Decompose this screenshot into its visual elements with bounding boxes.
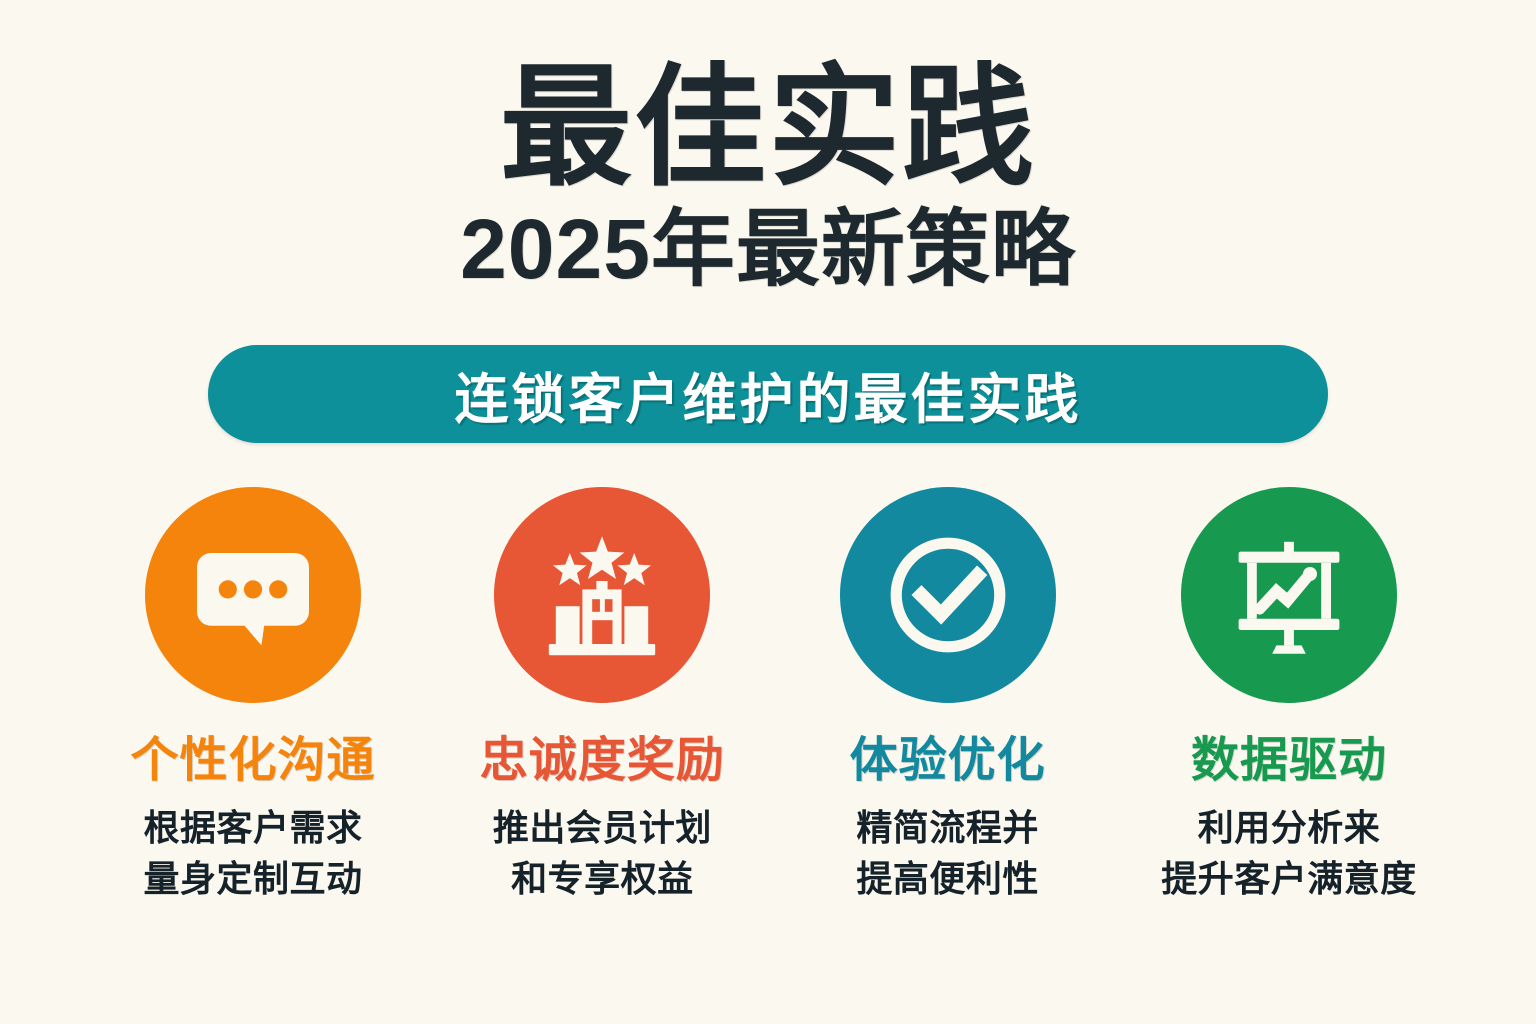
presentation-chart-icon xyxy=(1219,525,1359,665)
pillar-description-line-2: 提高便利性 xyxy=(856,853,1039,904)
pillar-experience-optimization: 体验优化 精简流程并 提高便利性 xyxy=(783,487,1113,904)
pillar-description: 根据客户需求 量身定制互动 xyxy=(143,802,362,904)
pillar-description-line-1: 根据客户需求 xyxy=(143,802,362,853)
pillars-row: 个性化沟通 根据客户需求 量身定制互动 xyxy=(88,487,1448,904)
pillar-title: 数据驱动 xyxy=(1191,733,1387,788)
page-subtitle: 2025年最新策略 xyxy=(0,202,1536,296)
pillar-title: 体验优化 xyxy=(850,733,1046,788)
banner-text: 连锁客户维护的最佳实践 xyxy=(455,355,1082,434)
pillar-description: 利用分析来 提升客户满意度 xyxy=(1161,802,1417,904)
pillar-description: 精简流程并 提高便利性 xyxy=(856,802,1039,904)
pillar-title: 忠诚度奖励 xyxy=(480,733,725,788)
award-podium-stars-icon xyxy=(532,525,672,665)
chat-bubble-icon xyxy=(183,525,323,665)
pillar-data-driven: 数据驱动 利用分析来 提升客户满意度 xyxy=(1124,487,1454,904)
pillar-description: 推出会员计划 和专享权益 xyxy=(493,802,712,904)
pillar-description-line-1: 推出会员计划 xyxy=(493,802,712,853)
award-podium-stars-icon-circle xyxy=(494,487,710,703)
pillar-loyalty-rewards: 忠诚度奖励 推出会员计划 和专享权益 xyxy=(437,487,767,904)
pillar-description-line-2: 和专享权益 xyxy=(493,853,712,904)
header-block: 最佳实践 2025年最新策略 xyxy=(0,58,1536,296)
check-circle-icon xyxy=(878,525,1018,665)
presentation-chart-icon-circle xyxy=(1181,487,1397,703)
pillar-description-line-1: 精简流程并 xyxy=(856,802,1039,853)
pillar-description-line-2: 量身定制互动 xyxy=(143,853,362,904)
banner: 连锁客户维护的最佳实践 xyxy=(208,345,1328,443)
pillar-description-line-1: 利用分析来 xyxy=(1161,802,1417,853)
page-title: 最佳实践 xyxy=(0,58,1536,198)
pillar-personalized-communication: 个性化沟通 根据客户需求 量身定制互动 xyxy=(88,487,418,904)
pillar-title: 个性化沟通 xyxy=(130,733,375,788)
pillar-description-line-2: 提升客户满意度 xyxy=(1161,853,1417,904)
infographic-poster: 最佳实践 2025年最新策略 连锁客户维护的最佳实践 个性化沟通 根据客户需求 … xyxy=(0,0,1536,1024)
chat-bubble-icon-circle xyxy=(145,487,361,703)
check-circle-icon-circle xyxy=(840,487,1056,703)
